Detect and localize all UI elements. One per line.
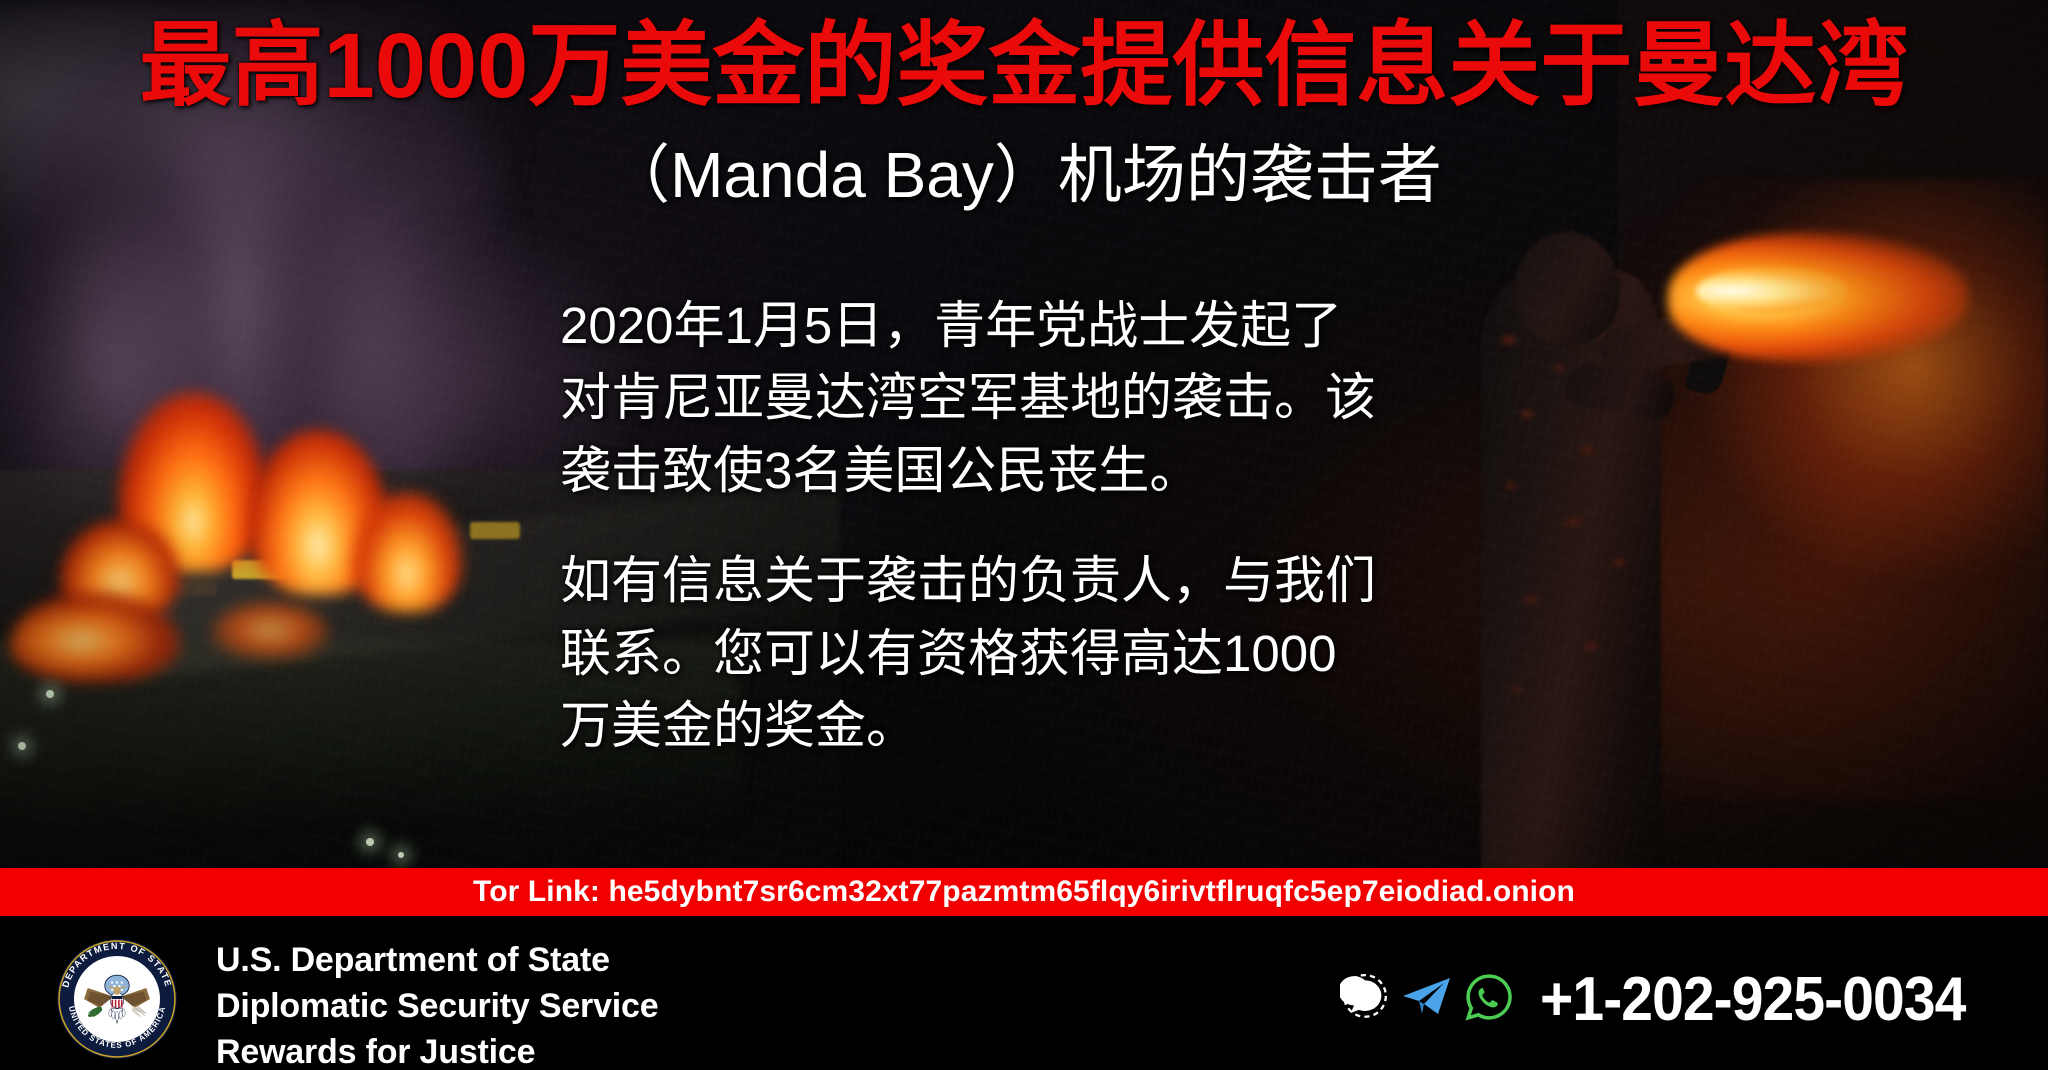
agency-name-block: U.S. Department of State Diplomatic Secu… — [216, 938, 658, 1070]
body-paragraph: 2020年1月5日，青年党战士发起了 对肯尼亚曼达湾空军基地的袭击。该 袭击致使… — [560, 290, 1560, 507]
department-of-state-seal: DEPARTMENT OF STATE UNITED STATES OF AME… — [56, 938, 178, 1060]
agency-line: Diplomatic Security Service — [216, 984, 658, 1030]
agency-line: U.S. Department of State — [216, 938, 658, 984]
reward-poster: 最高1000万美金的奖金提供信息关于曼达湾 （Manda Bay）机场的袭击者 … — [0, 0, 2048, 1070]
signal-icon[interactable] — [1340, 972, 1390, 1027]
body-line: 袭击致使3名美国公民丧生。 — [560, 435, 1560, 507]
body-text-block: 2020年1月5日，青年党战士发起了 对肯尼亚曼达湾空军基地的袭击。该 袭击致使… — [560, 290, 1560, 762]
body-line: 联系。您可以有资格获得高达1000 — [560, 618, 1560, 690]
whatsapp-icon[interactable] — [1464, 972, 1514, 1027]
body-line: 2020年1月5日，青年党战士发起了 — [560, 290, 1560, 362]
tor-link-banner: Tor Link: he5dybnt7sr6cm32xt77pazmtm65fl… — [0, 868, 2048, 916]
headline-subject: （Manda Bay）机场的袭击者 — [0, 140, 2048, 210]
body-paragraph: 如有信息关于袭击的负责人，与我们 联系。您可以有资格获得高达1000 万美金的奖… — [560, 545, 1560, 762]
poster-content: 最高1000万美金的奖金提供信息关于曼达湾 （Manda Bay）机场的袭击者 … — [0, 0, 2048, 1070]
contact-phone-number[interactable]: +1-202-925-0034 — [1540, 964, 1965, 1035]
body-line: 万美金的奖金。 — [560, 690, 1560, 762]
poster-footer: DEPARTMENT OF STATE UNITED STATES OF AME… — [0, 916, 2048, 1070]
agency-line: Rewards for Justice — [216, 1030, 658, 1070]
body-line: 对肯尼亚曼达湾空军基地的袭击。该 — [560, 362, 1560, 434]
telegram-icon[interactable] — [1400, 973, 1454, 1026]
messaging-icons — [1340, 972, 1514, 1027]
body-line: 如有信息关于袭击的负责人，与我们 — [560, 545, 1560, 617]
tor-link-text[interactable]: Tor Link: he5dybnt7sr6cm32xt77pazmtm65fl… — [473, 875, 1575, 909]
contact-block: +1-202-925-0034 — [1340, 964, 2002, 1035]
headline-reward-amount: 最高1000万美金的奖金提供信息关于曼达湾 — [0, 20, 2048, 114]
